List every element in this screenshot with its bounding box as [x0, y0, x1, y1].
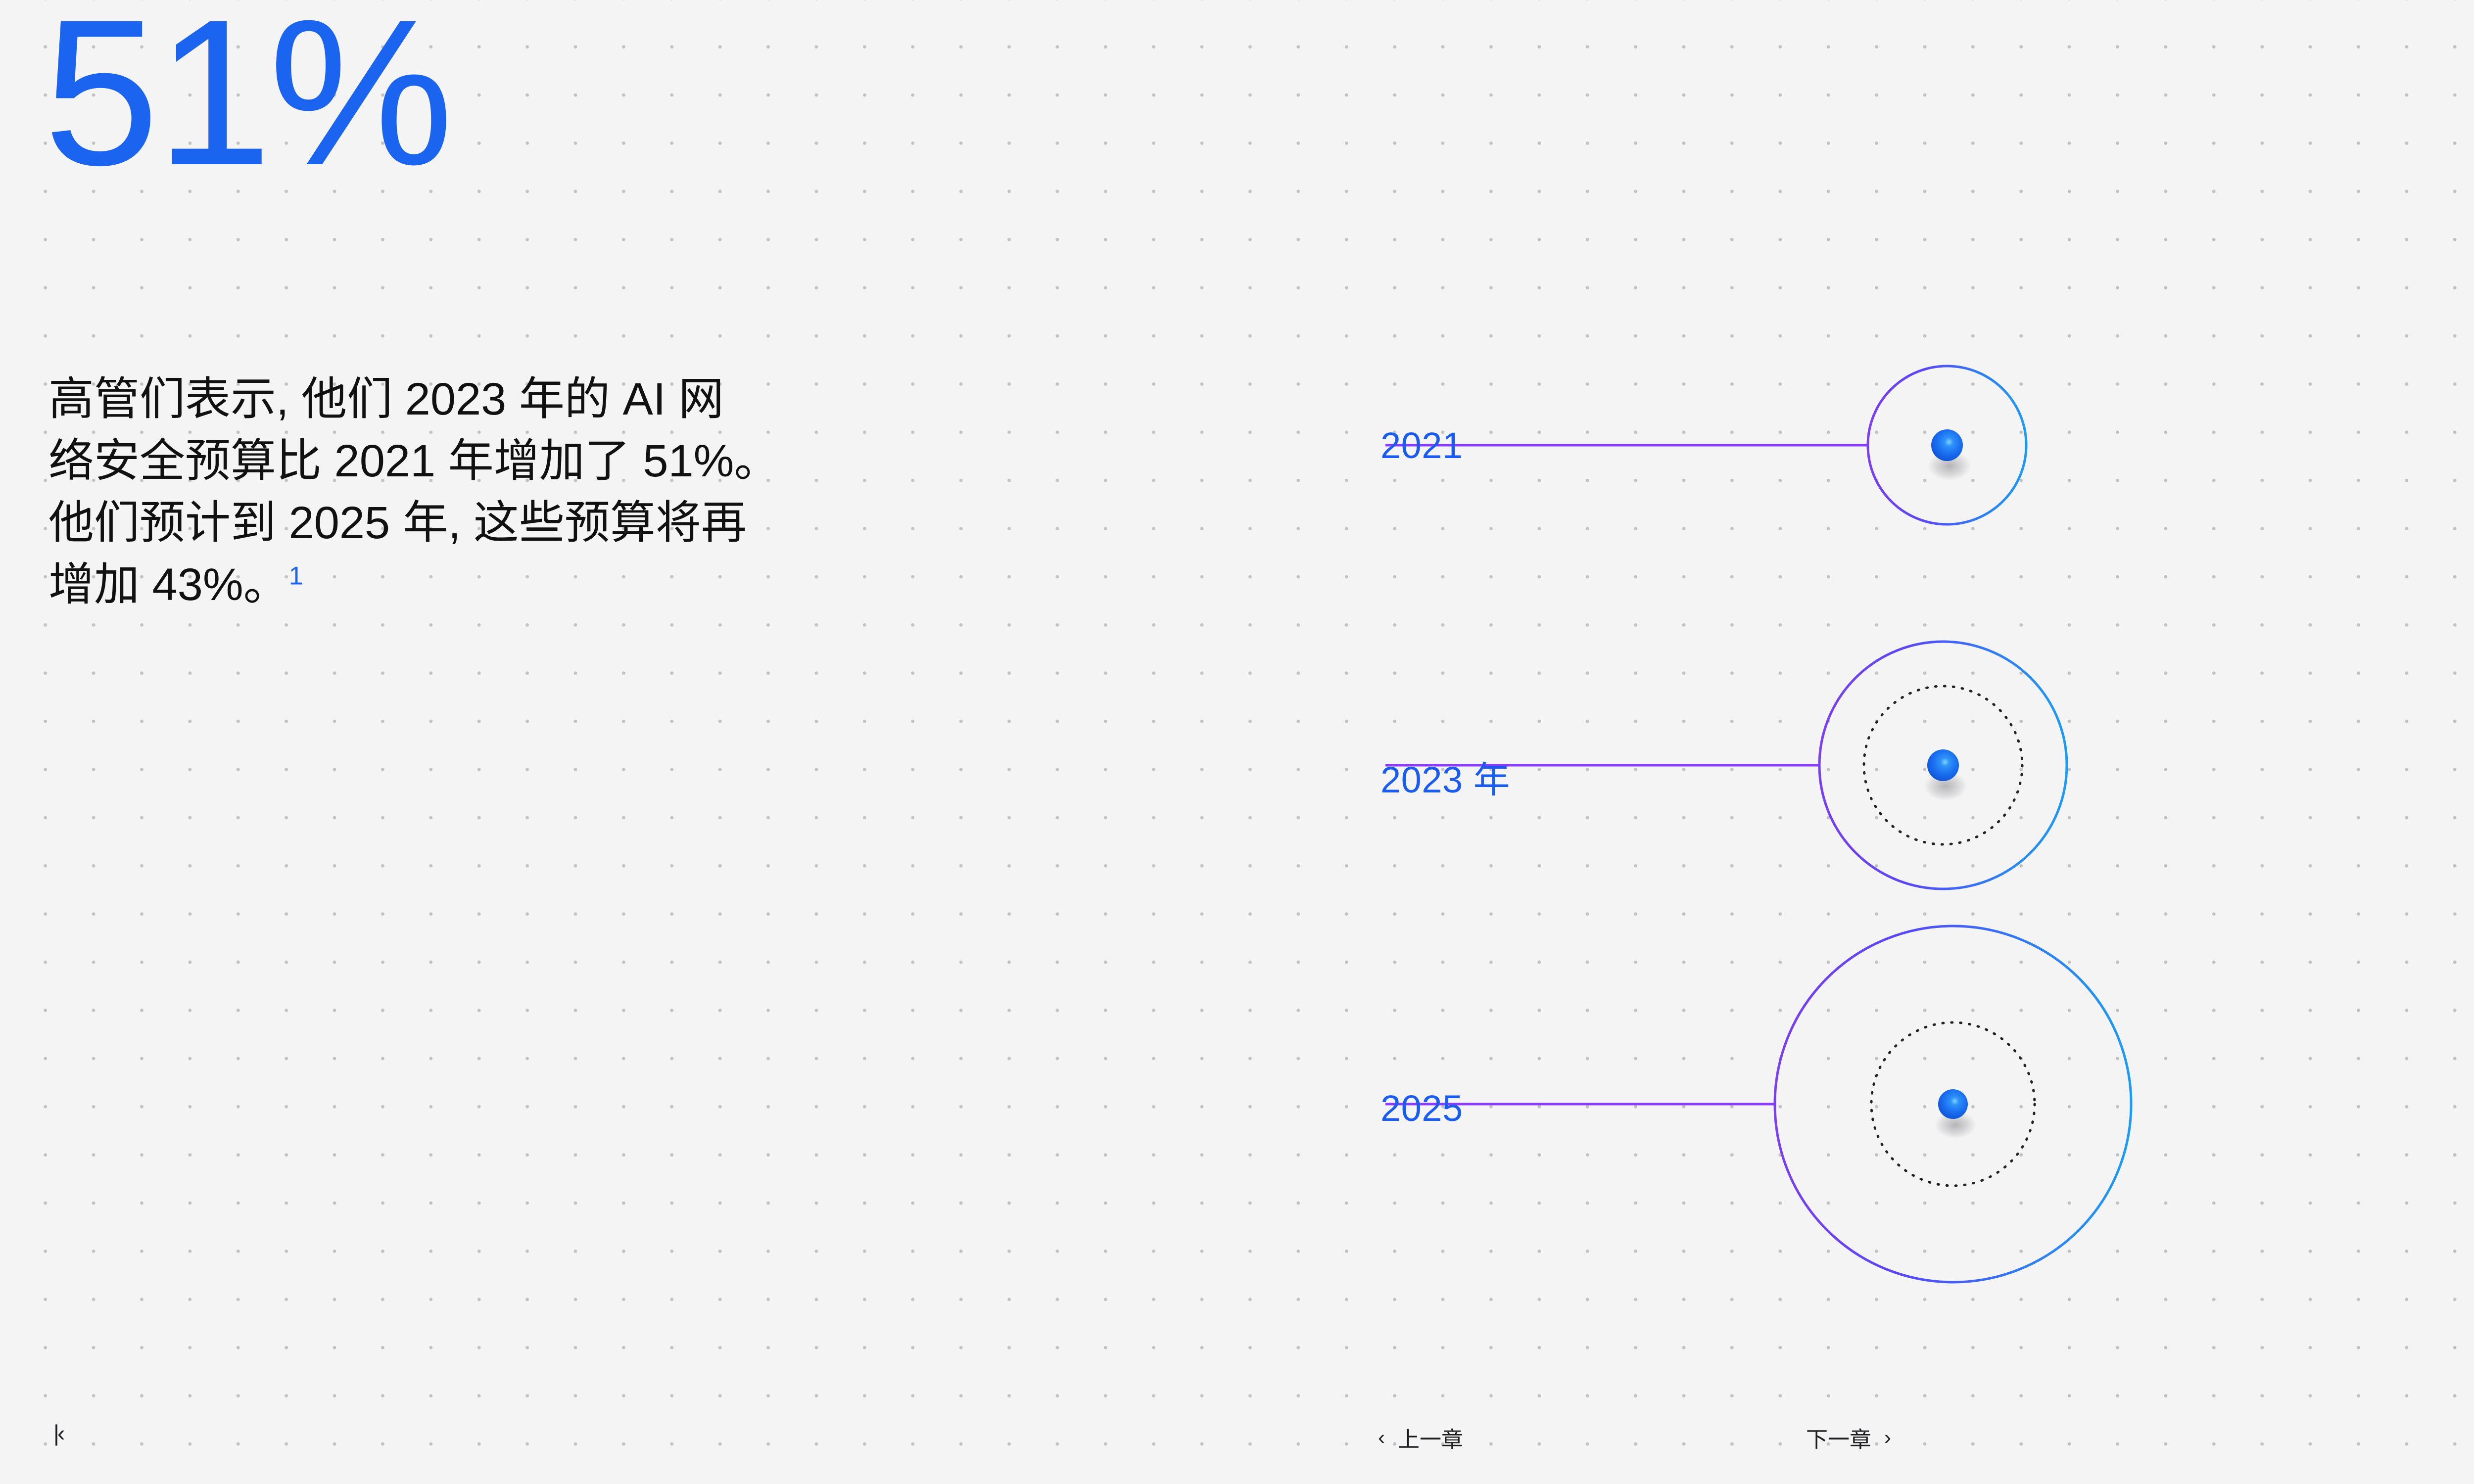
body-paragraph: 高管们表示, 他们 2023 年的 AI 网 络安全预算比 2021 年增加了 …: [48, 369, 820, 616]
next-chapter-button[interactable]: 下一章 ›: [1806, 1422, 1891, 1453]
bubble-2021: [1385, 366, 2026, 524]
chevron-left-icon: ‹: [1378, 1427, 1385, 1448]
body-line-1: 高管们表示, 他们 2023 年的 AI 网: [48, 374, 724, 424]
chevron-right-icon: ›: [1884, 1427, 1891, 1448]
sphere-2021: [1931, 429, 1963, 461]
next-chapter-label: 下一章: [1806, 1422, 1871, 1453]
sphere-2025: [1938, 1089, 1968, 1119]
footnote-marker[interactable]: 1: [289, 562, 303, 591]
skip-to-first-icon: |‹: [53, 1422, 63, 1444]
previous-chapter-button[interactable]: ‹ 上一章: [1378, 1422, 1463, 1453]
sphere-2023: [1927, 749, 1959, 781]
previous-chapter-label: 上一章: [1398, 1422, 1463, 1453]
first-page-button[interactable]: |‹: [53, 1422, 63, 1444]
bubble-label-2023: 2023 年: [1380, 750, 1510, 803]
bubble-label-2021: 2021: [1380, 424, 1463, 466]
bubble-2025: [1385, 926, 2131, 1282]
body-line-2: 络安全预算比 2021 年增加了 51%。: [48, 436, 779, 486]
page-title: 51%: [44, 0, 451, 197]
body-line-3: 他们预计到 2025 年, 这些预算将再: [48, 498, 747, 548]
body-line-4: 增加 43%。: [48, 559, 289, 610]
bubble-label-2025: 2025: [1380, 1087, 1463, 1129]
slide-canvas: 51% 高管们表示, 他们 2023 年的 AI 网 络安全预算比 2021 年…: [0, 0, 2474, 1484]
footer-navigation: |‹ ‹ 上一章 下一章 › 8: [0, 1395, 2474, 1484]
